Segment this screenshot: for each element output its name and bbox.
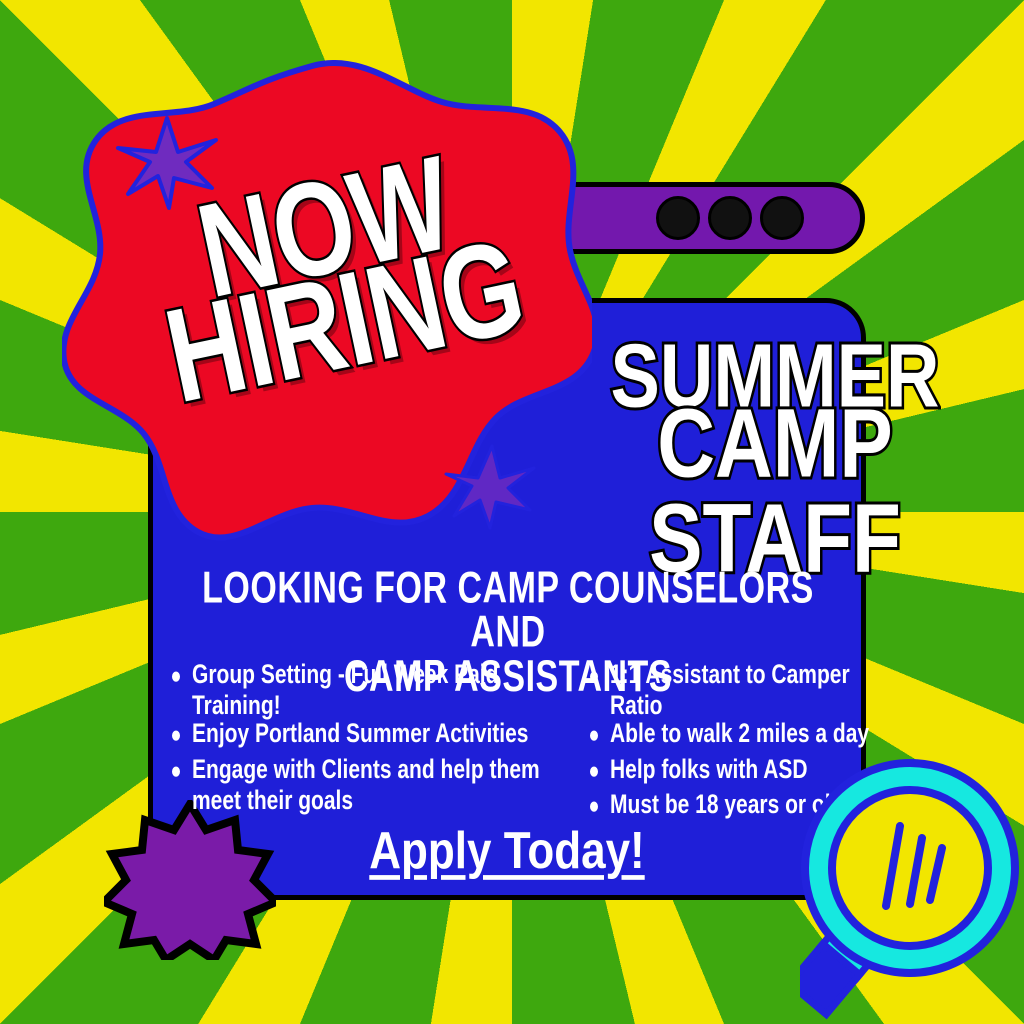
now-hiring-title: NOW HIRING bbox=[134, 144, 536, 408]
subheading-line-1: LOOKING FOR CAMP COUNSELORS AND bbox=[178, 566, 838, 654]
apply-today-link[interactable]: Apply Today! bbox=[148, 822, 866, 881]
pill-dot-icon bbox=[760, 196, 804, 240]
bullet-column-left: Group Setting - Full Week Paid Training!… bbox=[168, 660, 568, 826]
poster-canvas: NOW HIRING SUMMER CAMP STAFF LOOKING FOR… bbox=[0, 0, 1024, 1024]
pill-dot-icon bbox=[708, 196, 752, 240]
list-item: Engage with Clients and help them meet t… bbox=[168, 755, 568, 815]
magnifier-icon bbox=[800, 758, 1024, 1024]
list-item: 1:1 Assistant to Camper Ratio bbox=[586, 660, 876, 720]
pill-dot-icon bbox=[656, 196, 700, 240]
headline-line-2: CAMP STAFF bbox=[540, 395, 1010, 586]
list-item: Enjoy Portland Summer Activities bbox=[168, 719, 568, 749]
headline-summer-camp-staff: SUMMER CAMP STAFF bbox=[540, 340, 1010, 569]
list-item: Able to walk 2 miles a day bbox=[586, 719, 876, 749]
list-item: Group Setting - Full Week Paid Training! bbox=[168, 660, 568, 720]
sparkle-star-icon bbox=[442, 440, 538, 530]
bullet-lists: Group Setting - Full Week Paid Training!… bbox=[168, 660, 868, 826]
